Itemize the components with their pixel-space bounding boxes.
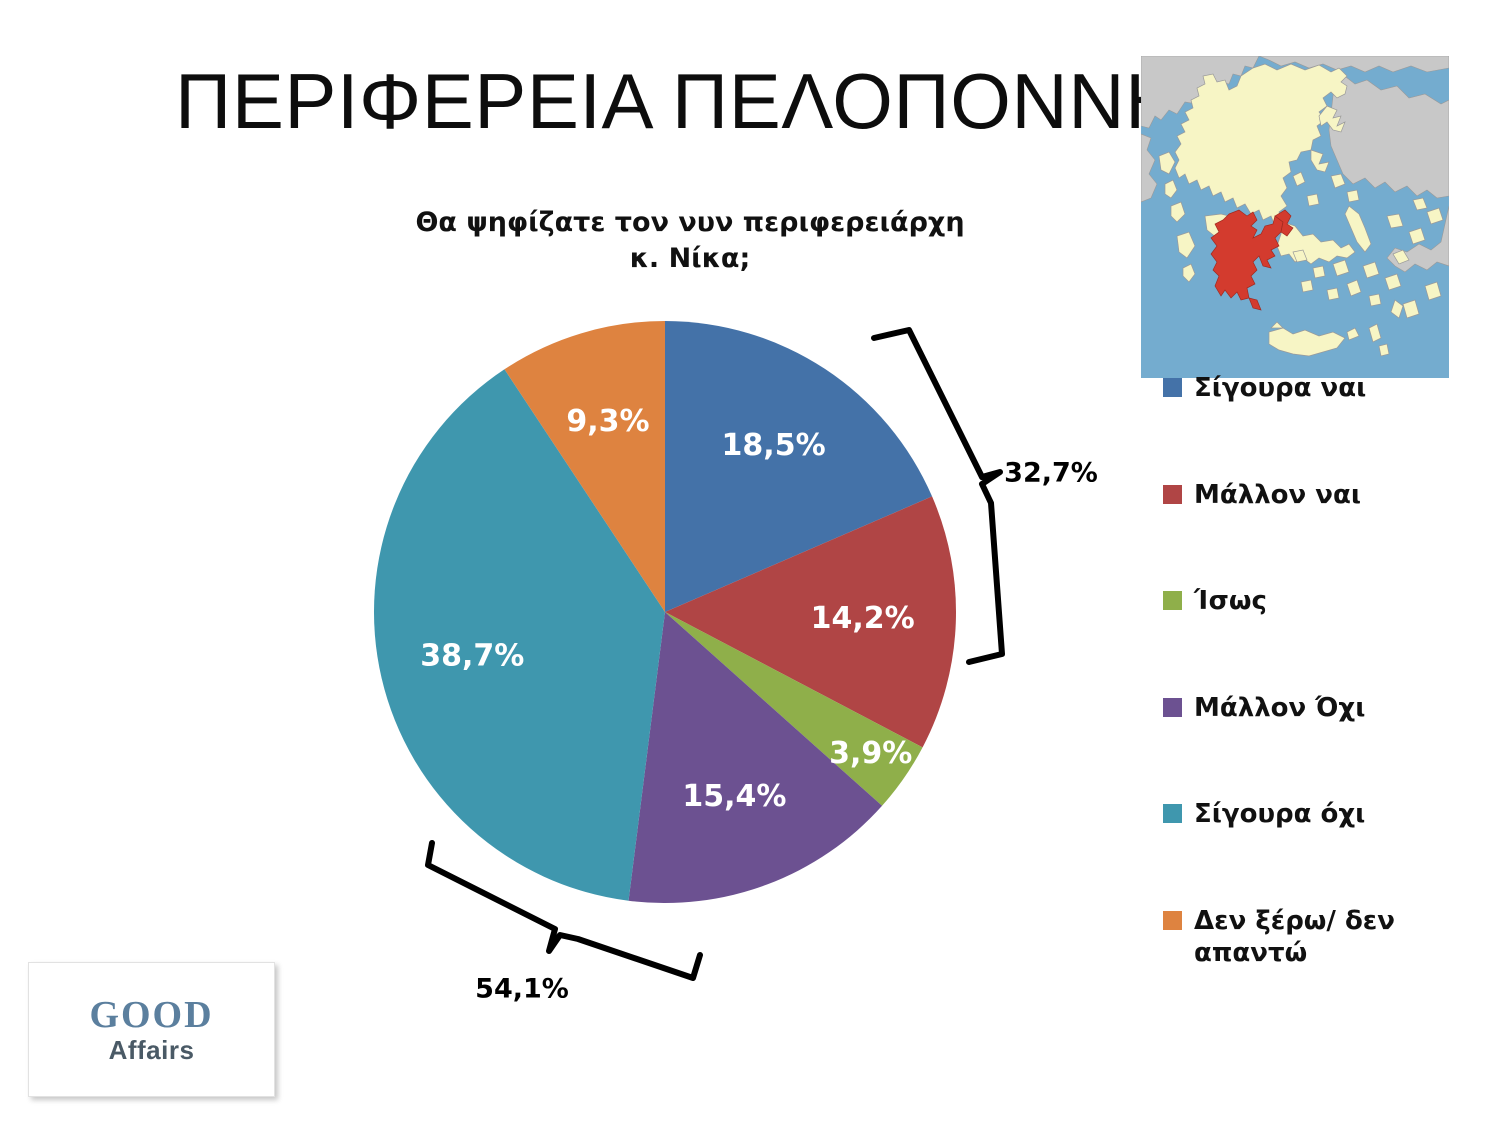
pie-slice-3[interactable] — [629, 612, 883, 903]
chart-legend: Σίγουρα ναι Μάλλον ναι Ίσως Μάλλον Όχι Σ… — [1163, 372, 1493, 1044]
legend-swatch-icon-1 — [1163, 485, 1182, 504]
pie-slice-label-3: 15,4% — [682, 779, 786, 814]
legend-item-3[interactable]: Μάλλον Όχι — [1163, 692, 1493, 725]
pie-slice-label-5: 9,3% — [566, 404, 649, 439]
legend-label-3: Μάλλον Όχι — [1194, 692, 1365, 725]
legend-item-1[interactable]: Μάλλον ναι — [1163, 479, 1493, 512]
logo-wordmark-good: GOOD — [29, 993, 274, 1037]
page-title: ΠΕΡΙΦΕΡΕΙΑ ΠΕΛΟΠΟΝΝΗΣΟΥ — [175, 62, 1135, 140]
pie-slice-label-0: 18,5% — [722, 428, 826, 463]
legend-label-2: Ίσως — [1194, 585, 1267, 618]
logo-wordmark-affairs: Affairs — [29, 1035, 274, 1066]
pie-slice-label-2: 3,9% — [829, 736, 912, 771]
chart-title: Θα ψηφίζατε τον νυν περιφερειάρχη κ. Νίκ… — [400, 205, 980, 278]
pie-slice-label-1: 14,2% — [811, 601, 915, 636]
legend-label-1: Μάλλον ναι — [1194, 479, 1361, 512]
pie-slice-1[interactable] — [665, 496, 956, 747]
bracket-no-label: 54,1% — [475, 974, 569, 1005]
pie-slice-0[interactable] — [665, 321, 932, 612]
legend-item-5[interactable]: Δεν ξέρω/ δεν απαντώ — [1163, 905, 1493, 970]
legend-item-2[interactable]: Ίσως — [1163, 585, 1493, 618]
pie-slice-5[interactable] — [504, 321, 665, 612]
legend-swatch-icon-5 — [1163, 911, 1182, 930]
bracket-yes-path — [874, 330, 1002, 662]
pie-slice-2[interactable] — [665, 612, 923, 806]
legend-item-0[interactable]: Σίγουρα ναι — [1163, 372, 1493, 405]
legend-swatch-icon-3 — [1163, 698, 1182, 717]
greece-locator-map — [1141, 56, 1449, 378]
bracket-yes-label: 32,7% — [1004, 458, 1098, 489]
legend-label-4: Σίγουρα όχι — [1194, 798, 1365, 831]
legend-swatch-icon-4 — [1163, 804, 1182, 823]
pie-slice-group — [374, 321, 956, 903]
bracket-no-path — [428, 843, 700, 978]
bracket-yes-total: 32,7% — [874, 330, 1098, 662]
legend-item-4[interactable]: Σίγουρα όχι — [1163, 798, 1493, 831]
bracket-no-total: 54,1% — [428, 843, 700, 1005]
legend-swatch-icon-0 — [1163, 378, 1182, 397]
legend-label-0: Σίγουρα ναι — [1194, 372, 1366, 405]
logo-inner: GOOD Affairs — [29, 963, 274, 1096]
pie-slice-4[interactable] — [374, 369, 665, 900]
greece-map-svg — [1141, 56, 1449, 378]
good-affairs-logo: GOOD Affairs — [28, 962, 275, 1097]
pie-label-group: 18,5%14,2%3,9%15,4%38,7%9,3% — [420, 404, 914, 814]
pie-slice-label-4: 38,7% — [420, 639, 524, 674]
legend-swatch-icon-2 — [1163, 591, 1182, 610]
legend-label-5: Δεν ξέρω/ δεν απαντώ — [1194, 905, 1493, 970]
